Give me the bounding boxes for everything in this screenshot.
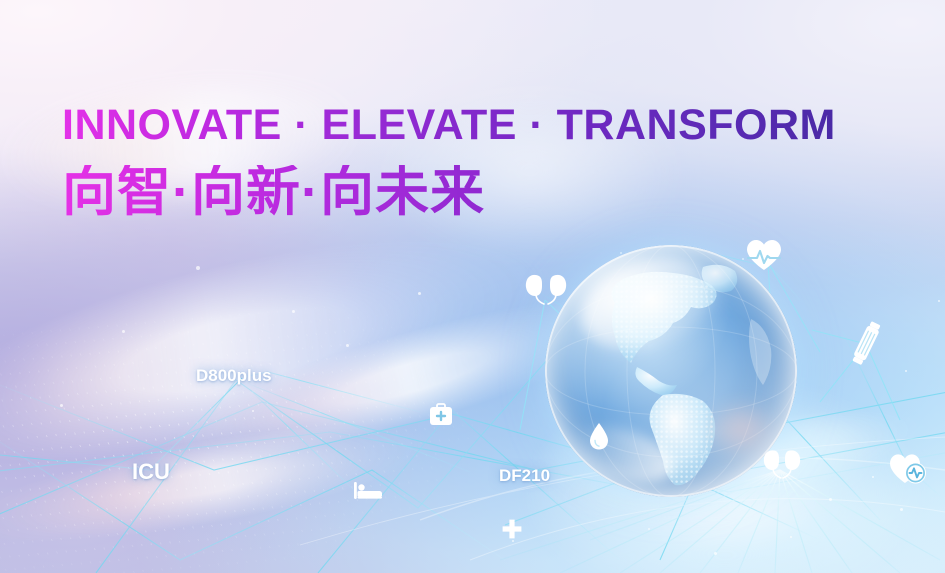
- label-df210: DF210: [499, 466, 550, 486]
- globe-rim: [545, 245, 797, 497]
- label-d800plus: D800plus: [196, 366, 272, 386]
- dialyzer-cartridge-icon: [851, 318, 881, 370]
- label-icu: ICU: [132, 459, 170, 485]
- heart-pulse-icon: [745, 238, 783, 272]
- kidney-pair-icon: [762, 448, 802, 480]
- heart-monitor-icon: [888, 452, 928, 486]
- kidney-pair-icon: [524, 272, 568, 306]
- hospital-bed-icon: [352, 479, 384, 501]
- medical-kit-icon: [428, 402, 454, 428]
- earth-globe: [545, 245, 797, 497]
- page-subtitle: 向智·向新·向未来: [62, 165, 902, 219]
- hero-banner: D800plus ICU DF210 INNOVATE · ELEVATE · …: [0, 0, 945, 573]
- page-title: INNOVATE · ELEVATE · TRANSFORM: [62, 104, 902, 147]
- headline-block: INNOVATE · ELEVATE · TRANSFORM 向智·向新·向未来: [62, 104, 902, 219]
- blood-droplet-icon: [588, 421, 610, 451]
- globe-sphere: [545, 245, 797, 497]
- medical-cross-icon: [501, 518, 523, 540]
